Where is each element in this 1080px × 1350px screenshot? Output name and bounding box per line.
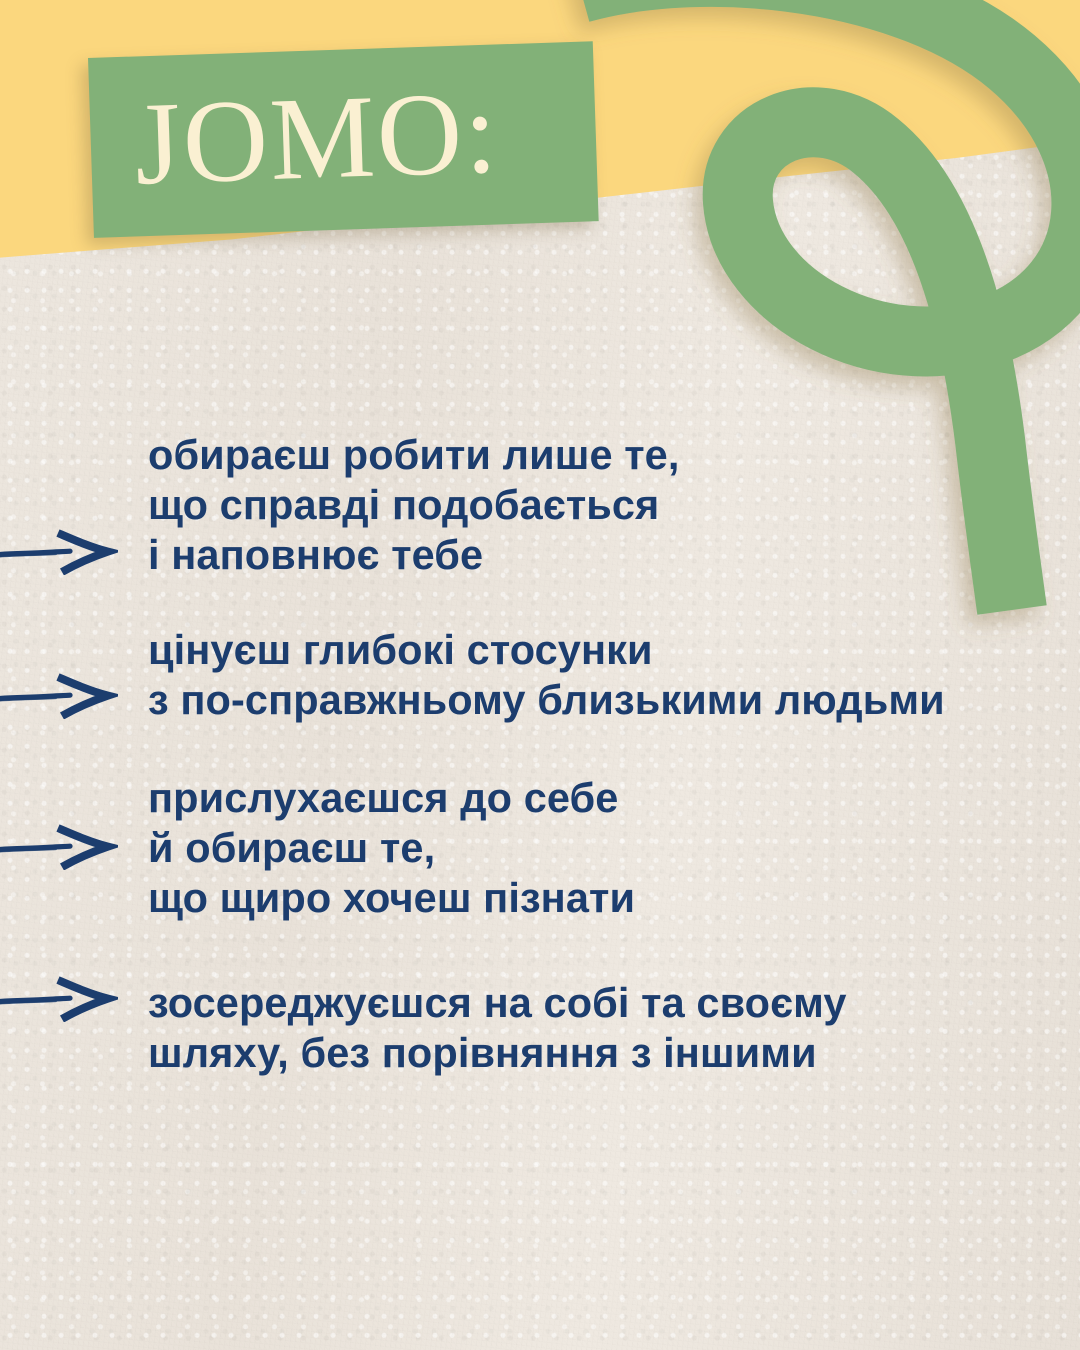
text-line: цінуєш глибокі стосунки xyxy=(148,625,1080,675)
text-line: прислухаєшся до себе xyxy=(148,773,1080,823)
benefit-list: обираєш робити лише те, що справді подоб… xyxy=(0,430,1080,1078)
text-line: що справді подобається xyxy=(148,480,1080,530)
text-line: з по-справжньому близькими людьми xyxy=(148,675,1080,725)
text-line: і наповнює тебе xyxy=(148,530,1080,580)
green-title-banner: JOMO: xyxy=(88,41,599,238)
list-item: цінуєш глибокі стосунки з по-справжньому… xyxy=(0,625,1080,725)
list-item-text: прислухаєшся до себе й обираєш те, що щи… xyxy=(148,773,1080,924)
arrow-right-icon xyxy=(0,824,118,870)
arrow-right-icon xyxy=(0,976,118,1022)
arrow-right-icon xyxy=(0,673,118,719)
list-item-text: цінуєш глибокі стосунки з по-справжньому… xyxy=(148,625,1080,725)
text-line: зосереджуєшся на собі та своєму xyxy=(148,978,1080,1028)
list-item-text: зосереджуєшся на собі та своєму шляху, б… xyxy=(148,978,1080,1078)
list-item: зосереджуєшся на собі та своєму шляху, б… xyxy=(0,978,1080,1078)
list-item: прислухаєшся до себе й обираєш те, що щи… xyxy=(0,773,1080,924)
text-line: й обираєш те, xyxy=(148,823,1080,873)
text-line: що щиро хочеш пізнати xyxy=(148,873,1080,923)
poster-canvas: JOMO: обираєш робити лише те, що справді… xyxy=(0,0,1080,1350)
text-line: шляху, без порівняння з іншими xyxy=(148,1028,1080,1078)
page-title: JOMO: xyxy=(89,73,501,204)
list-item-text: обираєш робити лише те, що справді подоб… xyxy=(148,430,1080,581)
list-item: обираєш робити лише те, що справді подоб… xyxy=(0,430,1080,581)
arrow-right-icon xyxy=(0,529,118,575)
text-line: обираєш робити лише те, xyxy=(148,430,1080,480)
